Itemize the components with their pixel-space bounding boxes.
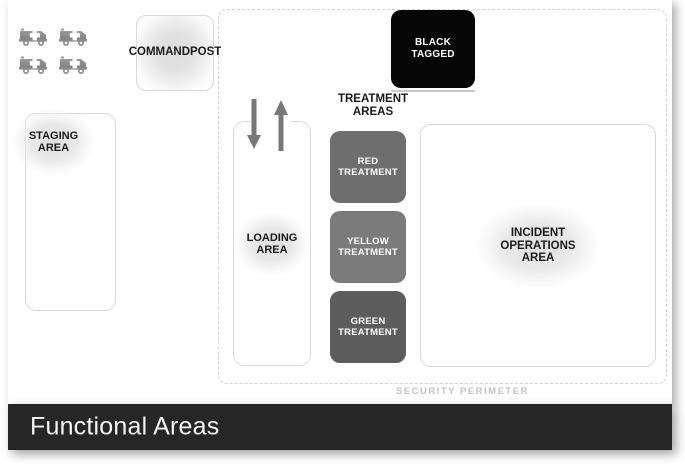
command-post-label-line1: COMMAND	[129, 46, 190, 59]
command-post-box[interactable]: COMMAND POST	[136, 15, 214, 91]
ambulance-icon	[58, 53, 90, 75]
black-tagged-box[interactable]: BLACK TAGGED	[391, 10, 475, 88]
treatment-areas-heading: TREATMENT AREAS	[326, 93, 420, 119]
staging-area-label-line1: STAGING	[29, 130, 78, 142]
ambulance-icon-grid	[18, 25, 90, 75]
slide-canvas: SECURITY PERIMETER COMMAND POST	[0, 0, 685, 471]
green-treatment-box[interactable]: GREEN TREATMENT	[330, 291, 406, 363]
green-treatment-label-line1: GREEN	[351, 316, 386, 327]
incident-operations-label-line3: AREA	[522, 252, 555, 264]
black-tagged-underline	[391, 90, 475, 92]
red-treatment-label-line1: RED	[358, 156, 379, 167]
yellow-treatment-label-line1: YELLOW	[347, 236, 389, 247]
green-treatment-label-line2: TREATMENT	[338, 327, 398, 338]
black-tagged-label-line2: TAGGED	[411, 49, 454, 60]
treatment-areas-heading-line1: TREATMENT	[338, 93, 408, 105]
command-post-label: COMMAND POST	[137, 16, 213, 90]
command-post-label-line2: POST	[190, 46, 221, 59]
loading-area-label-line1: LOADING	[247, 232, 298, 244]
slide-card: SECURITY PERIMETER COMMAND POST	[8, 0, 672, 404]
arrow-up-icon	[273, 99, 289, 151]
arrow-down-icon	[246, 99, 262, 151]
red-treatment-box[interactable]: RED TREATMENT	[330, 131, 406, 203]
red-treatment-label-line2: TREATMENT	[338, 167, 398, 178]
treatment-areas-heading-line2: AREAS	[353, 106, 393, 118]
incident-operations-label-line1: INCIDENT	[511, 227, 565, 239]
loading-area-label-line2: AREA	[256, 244, 287, 256]
slide-title-bar: Functional Areas	[8, 404, 672, 450]
black-tagged-label-line1: BLACK	[415, 37, 451, 48]
ambulance-icon	[18, 25, 50, 47]
yellow-treatment-label-line2: TREATMENT	[338, 247, 398, 258]
security-perimeter-label: SECURITY PERIMETER	[396, 386, 529, 397]
staging-area-label-line2: AREA	[38, 142, 69, 154]
staging-area-label: STAGING AREA	[14, 110, 93, 174]
loading-area-label: LOADING AREA	[236, 213, 308, 275]
ambulance-icon	[18, 53, 50, 75]
incident-operations-area-label: INCIDENT OPERATIONS AREA	[478, 205, 598, 287]
ambulance-icon	[58, 25, 90, 47]
incident-operations-label-line2: OPERATIONS	[500, 240, 575, 252]
slide-title: Functional Areas	[30, 413, 219, 442]
yellow-treatment-box[interactable]: YELLOW TREATMENT	[330, 211, 406, 283]
